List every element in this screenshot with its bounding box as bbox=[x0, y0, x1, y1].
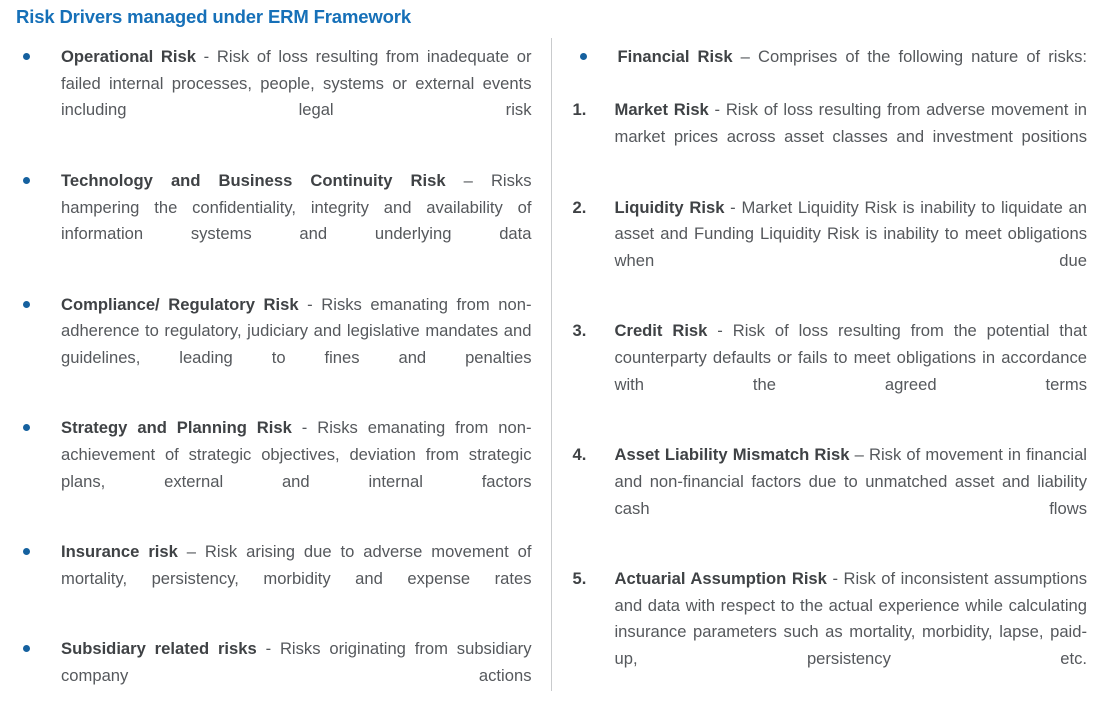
risk-name: Insurance risk bbox=[61, 542, 178, 561]
list-item: 5.Actuarial Assumption Risk - Risk of in… bbox=[573, 566, 1088, 700]
list-item: 3.Credit Risk - Risk of loss resulting f… bbox=[573, 318, 1088, 425]
list-number: 3. bbox=[573, 318, 607, 345]
risk-description: – Comprises of the following nature of r… bbox=[733, 47, 1087, 66]
risk-name: Asset Liability Mismatch Risk bbox=[615, 445, 850, 464]
bullet-icon bbox=[16, 636, 60, 663]
document-page: Risk Drivers managed under ERM Framework… bbox=[0, 0, 1117, 691]
page-title: Risk Drivers managed under ERM Framework bbox=[16, 6, 411, 28]
bullet-icon bbox=[16, 292, 60, 319]
bullet-icon bbox=[16, 44, 60, 71]
bullet-icon bbox=[16, 415, 60, 442]
financial-risk-numbered-list: 1.Market Risk - Risk of loss resulting f… bbox=[573, 97, 1088, 699]
list-item: Strategy and Planning Risk - Risks emana… bbox=[16, 415, 532, 522]
risk-name: Financial Risk bbox=[618, 47, 733, 66]
two-column-body: Operational Risk - Risk of loss resultin… bbox=[0, 44, 1117, 691]
bullet-icon bbox=[573, 44, 617, 71]
list-item: Insurance risk – Risk arising due to adv… bbox=[16, 539, 532, 619]
list-number: 2. bbox=[573, 195, 607, 222]
list-item: Financial Risk – Comprises of the follow… bbox=[573, 44, 1088, 97]
bullet-icon bbox=[16, 539, 60, 566]
right-column: Financial Risk – Comprises of the follow… bbox=[552, 44, 1117, 691]
list-number: 1. bbox=[573, 97, 607, 124]
risk-name: Strategy and Planning Risk bbox=[61, 418, 292, 437]
list-item: 4.Asset Liability Mismatch Risk – Risk o… bbox=[573, 442, 1088, 549]
risk-name: Technology and Business Continuity Risk bbox=[61, 171, 446, 190]
bullet-icon bbox=[16, 168, 60, 195]
left-column: Operational Risk - Risk of loss resultin… bbox=[0, 44, 551, 691]
risk-name: Operational Risk bbox=[61, 47, 196, 66]
financial-risk-bullet-list: Financial Risk – Comprises of the follow… bbox=[573, 44, 1088, 97]
list-item: Operational Risk - Risk of loss resultin… bbox=[16, 44, 532, 151]
list-number: 5. bbox=[573, 566, 607, 593]
risk-name: Liquidity Risk bbox=[615, 198, 725, 217]
risk-name: Market Risk bbox=[615, 100, 709, 119]
risk-name: Credit Risk bbox=[615, 321, 708, 340]
risk-name: Subsidiary related risks bbox=[61, 639, 257, 658]
risk-name: Compliance/ Regulatory Risk bbox=[61, 295, 299, 314]
list-item: 1.Market Risk - Risk of loss resulting f… bbox=[573, 97, 1088, 177]
list-item: Technology and Business Continuity Risk … bbox=[16, 168, 532, 275]
risk-name: Actuarial Assumption Risk bbox=[615, 569, 827, 588]
list-number: 4. bbox=[573, 442, 607, 469]
list-item: 2.Liquidity Risk - Market Liquidity Risk… bbox=[573, 195, 1088, 302]
risk-driver-bullet-list: Operational Risk - Risk of loss resultin… bbox=[16, 44, 532, 716]
list-item: Subsidiary related risks - Risks origina… bbox=[16, 636, 532, 716]
list-item: Compliance/ Regulatory Risk - Risks eman… bbox=[16, 292, 532, 399]
